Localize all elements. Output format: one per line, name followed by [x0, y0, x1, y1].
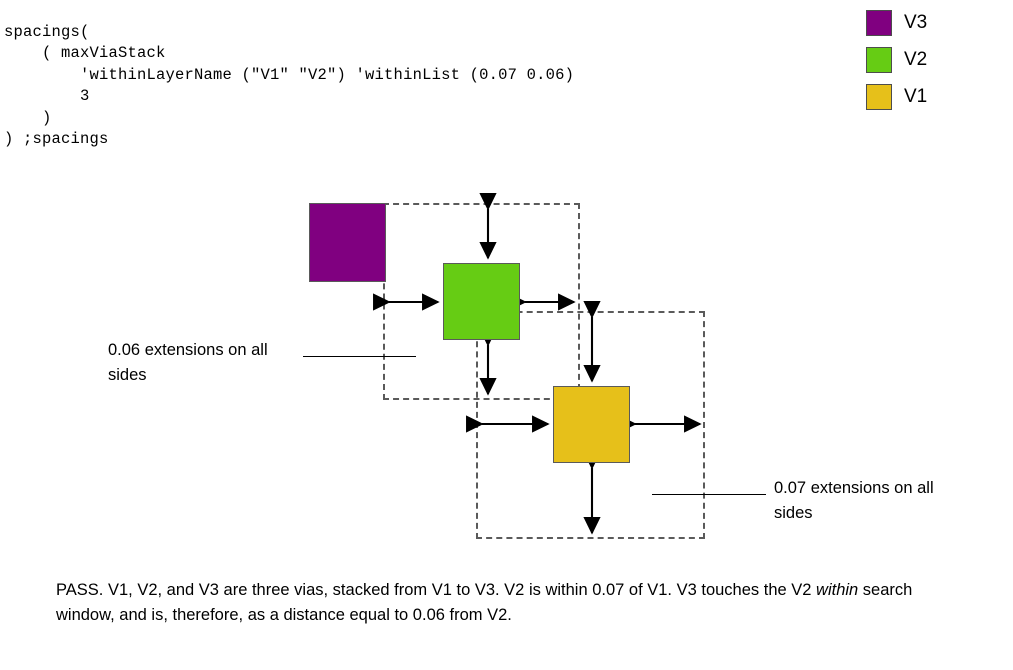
diagram-page: spacings( ( maxViaStack 'withinLayerName…: [0, 0, 1013, 670]
legend-swatch-v1: [866, 84, 892, 110]
via-square-v2: [443, 263, 520, 340]
callout-leader-007: [652, 494, 766, 495]
via-square-v1: [553, 386, 630, 463]
legend-swatch-v2: [866, 47, 892, 73]
legend-label-v2: V2: [904, 49, 927, 71]
legend-swatch-v3: [866, 10, 892, 36]
via-square-v3: [309, 203, 386, 282]
legend-label-v1: V1: [904, 86, 927, 108]
caption: PASS. V1, V2, and V3 are three vias, sta…: [56, 578, 966, 628]
caption-emphasis: within: [816, 581, 858, 599]
callout-007-extensions: 0.07 extensions on all sides: [774, 476, 934, 526]
caption-part1: PASS. V1, V2, and V3 are three vias, sta…: [56, 581, 816, 599]
legend-label-v3: V3: [904, 12, 927, 34]
callout-006-extensions: 0.06 extensions on all sides: [108, 338, 268, 388]
code-snippet: spacings( ( maxViaStack 'withinLayerName…: [4, 22, 574, 151]
callout-leader-006: [303, 356, 416, 357]
